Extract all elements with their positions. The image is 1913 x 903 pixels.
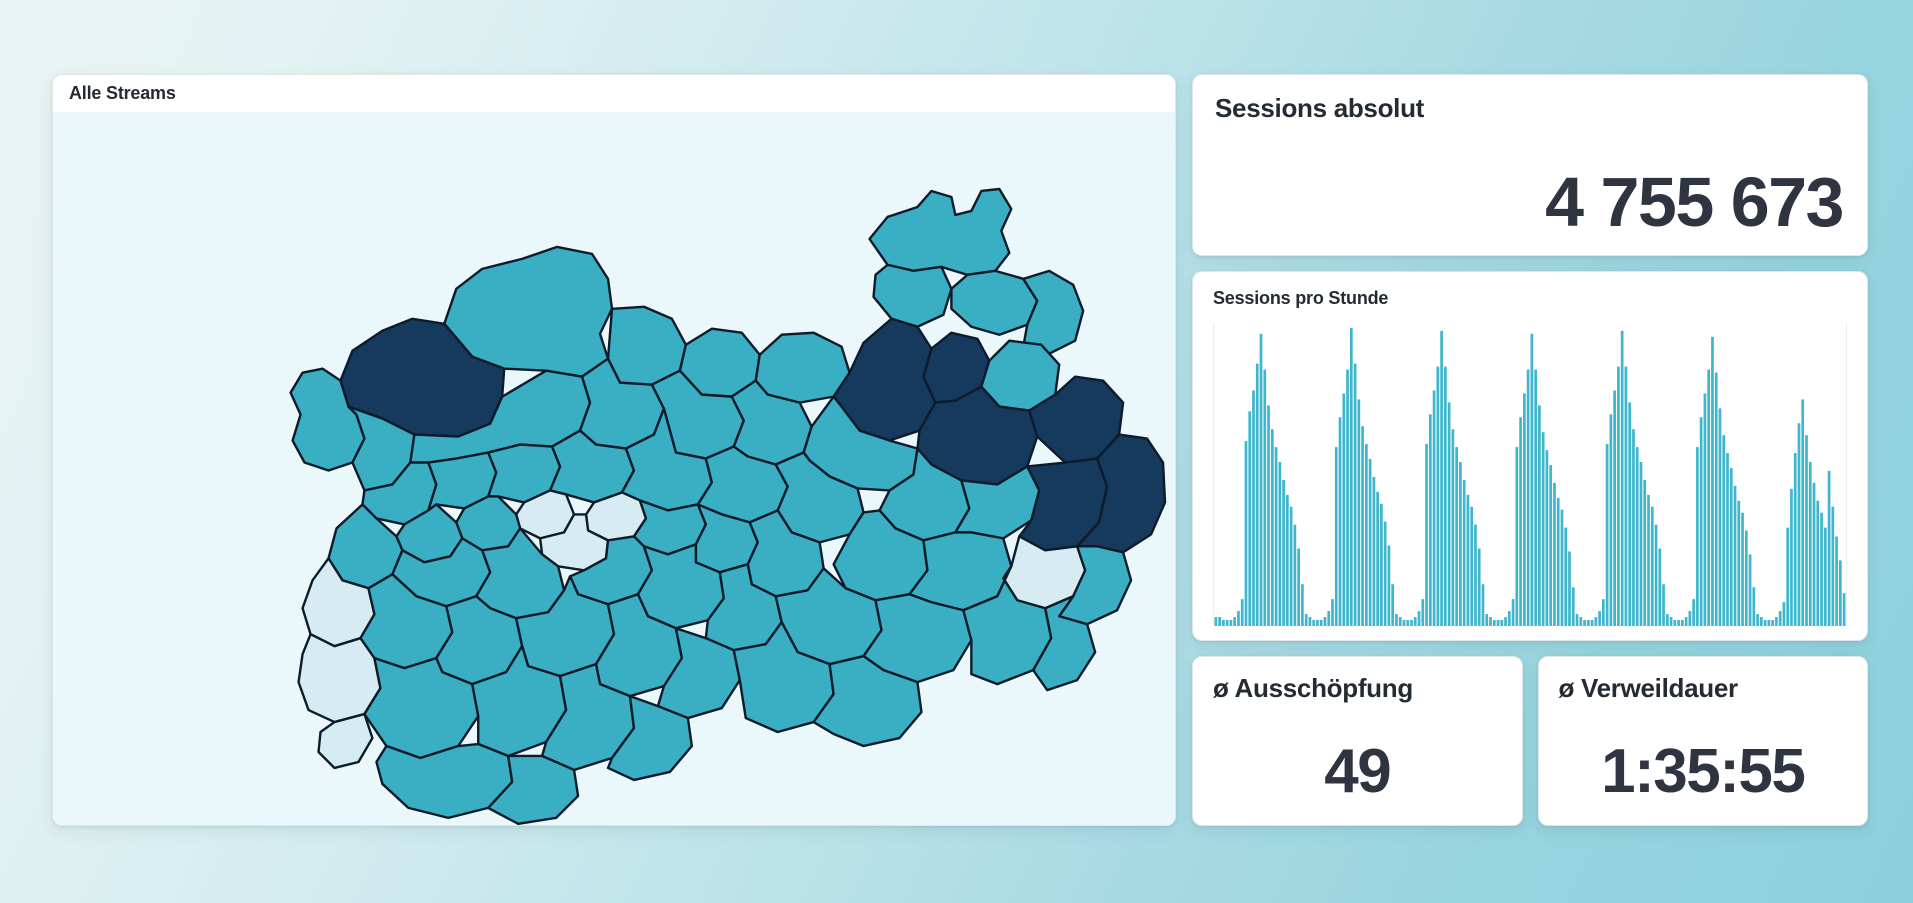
chart-bar: [1730, 468, 1733, 626]
chart-bar: [1805, 435, 1808, 626]
chart-bar: [1312, 620, 1315, 626]
chart-bar: [1497, 620, 1500, 626]
chart-bar: [1655, 525, 1658, 626]
chart-bar: [1222, 620, 1225, 626]
district-region: [870, 189, 1012, 275]
map-card-header: Alle Streams: [53, 75, 1175, 112]
chart-bar: [1301, 584, 1304, 626]
chart-bar: [1786, 528, 1789, 626]
chart-bar: [1286, 495, 1289, 626]
chart-bar: [1553, 483, 1556, 626]
chart-bar: [1376, 492, 1379, 626]
chart-bar: [1403, 620, 1406, 626]
chart-bar: [1625, 367, 1628, 626]
verweildauer-title: ø Verweildauer: [1559, 673, 1848, 704]
chart-bar: [1617, 367, 1620, 626]
chart-bar: [1357, 399, 1360, 626]
chart-bar: [1779, 611, 1782, 626]
chart-bar: [1429, 414, 1432, 626]
chart-bar: [1685, 617, 1688, 626]
chart-bar: [1722, 435, 1725, 626]
chart-bar: [1576, 614, 1579, 626]
chart-bar: [1794, 453, 1797, 626]
all-streams-map-card: Alle Streams: [52, 74, 1176, 826]
chart-bar: [1557, 498, 1560, 626]
chart-bar: [1598, 611, 1601, 626]
chart-bar: [1421, 599, 1424, 626]
chart-bar: [1433, 390, 1436, 626]
chart-bar: [1591, 620, 1594, 626]
chart-bar: [1365, 444, 1368, 626]
chart-bar: [1647, 495, 1650, 626]
chart-bar: [1704, 393, 1707, 626]
chart-bar: [1515, 447, 1518, 626]
chart-bar: [1610, 414, 1613, 626]
chart-bar: [1290, 507, 1293, 626]
chart-bar: [1237, 611, 1240, 626]
chart-bar: [1741, 513, 1744, 626]
chart-bar: [1640, 462, 1643, 626]
chart-bar: [1711, 337, 1714, 626]
chart-bar: [1256, 364, 1259, 626]
chart-bar: [1444, 367, 1447, 626]
chart-bar: [1233, 617, 1236, 626]
chart-bar: [1719, 408, 1722, 626]
dashboard-root: Alle Streams: [52, 74, 1868, 826]
chart-bar: [1798, 423, 1801, 626]
chart-bar: [1504, 617, 1507, 626]
chart-bar: [1726, 453, 1729, 626]
chart-bar: [1327, 611, 1330, 626]
chart-bar: [1643, 480, 1646, 626]
chart-bar: [1760, 617, 1763, 626]
chart-bar: [1294, 525, 1297, 626]
chart-bar: [1485, 614, 1488, 626]
chart-bar: [1271, 429, 1274, 626]
chart-bar: [1809, 462, 1812, 626]
chart-bar: [1587, 620, 1590, 626]
chart-bar: [1388, 545, 1391, 626]
chart-bar: [1549, 465, 1552, 626]
chart-bar: [1467, 495, 1470, 626]
chart-bar: [1677, 620, 1680, 626]
chart-bar: [1681, 620, 1684, 626]
chart-bar: [1275, 447, 1278, 626]
chart-bar: [1768, 620, 1771, 626]
chart-bar: [1602, 599, 1605, 626]
chart-bar: [1579, 617, 1582, 626]
chart-bar: [1418, 611, 1421, 626]
chart-bar: [1572, 587, 1575, 626]
chart-bar: [1226, 620, 1229, 626]
chart-bar: [1346, 370, 1349, 626]
sessions-absolute-card: Sessions absolut 4 755 673: [1192, 74, 1868, 256]
chart-bar: [1692, 599, 1695, 626]
chart-bar: [1666, 614, 1669, 626]
chart-bar: [1448, 402, 1451, 626]
chart-bar: [1331, 599, 1334, 626]
map-canvas[interactable]: [53, 112, 1175, 825]
chart-bar: [1241, 599, 1244, 626]
chart-bar: [1384, 522, 1387, 626]
sessions-per-hour-card: Sessions pro Stunde: [1192, 271, 1868, 641]
chart-bar: [1820, 513, 1823, 626]
chart-bar: [1523, 393, 1526, 626]
chart-bar: [1752, 587, 1755, 626]
chart-bar: [1463, 480, 1466, 626]
chart-bar: [1230, 620, 1233, 626]
chart-bar: [1621, 331, 1624, 626]
chart-bar: [1410, 620, 1413, 626]
chart-bar: [1297, 548, 1300, 626]
ausschoepfung-title: ø Ausschöpfung: [1213, 673, 1502, 704]
chart-bar: [1673, 620, 1676, 626]
chart-bar: [1395, 614, 1398, 626]
chart-bar: [1628, 402, 1631, 626]
chart-bar: [1828, 471, 1831, 626]
chart-bar: [1263, 370, 1266, 626]
chart-bar: [1252, 390, 1255, 626]
chart-bar: [1749, 554, 1752, 626]
chart-bar: [1734, 486, 1737, 626]
chart-bar: [1335, 447, 1338, 626]
chart-bar: [1613, 390, 1616, 626]
chart-bar: [1482, 584, 1485, 626]
chart-bar: [1764, 620, 1767, 626]
chart-bar: [1455, 447, 1458, 626]
chart-bar: [1508, 611, 1511, 626]
chart-bar: [1248, 411, 1251, 626]
chart-bar: [1436, 367, 1439, 626]
chart-bar: [1538, 405, 1541, 626]
chart-bar: [1500, 620, 1503, 626]
chart-bar: [1474, 525, 1477, 626]
chart-bar: [1816, 501, 1819, 626]
nrw-choropleth-map[interactable]: [53, 112, 1175, 825]
chart-bar: [1531, 334, 1534, 626]
chart-bar: [1707, 370, 1710, 626]
chart-bar: [1689, 611, 1692, 626]
ausschoepfung-value: 49: [1213, 741, 1502, 803]
district-region: [874, 265, 952, 327]
chart-bar: [1790, 489, 1793, 626]
chart-bar: [1380, 504, 1383, 626]
chart-bar: [1534, 370, 1537, 626]
chart-bar: [1564, 528, 1567, 626]
chart-bar: [1568, 551, 1571, 626]
chart-bar: [1414, 617, 1417, 626]
sessions-absolute-value: 4 755 673: [1215, 167, 1843, 237]
chart-bar: [1632, 429, 1635, 626]
chart-bar: [1354, 364, 1357, 626]
chart-bar: [1361, 426, 1364, 626]
chart-bar: [1391, 584, 1394, 626]
chart-bar: [1406, 620, 1409, 626]
chart-bar: [1801, 399, 1804, 626]
sessions-per-hour-title: Sessions pro Stunde: [1213, 288, 1847, 309]
chart-bar: [1843, 593, 1846, 626]
chart-bar: [1489, 617, 1492, 626]
chart-bar: [1260, 334, 1263, 626]
chart-bar: [1771, 620, 1774, 626]
chart-bar: [1478, 548, 1481, 626]
chart-bar: [1324, 617, 1327, 626]
chart-bar: [1245, 441, 1248, 626]
district-region: [319, 714, 373, 768]
chart-bar: [1561, 510, 1564, 626]
hourly-sessions-bar-chart[interactable]: [1214, 323, 1846, 626]
chart-bar: [1309, 617, 1312, 626]
chart-bar: [1278, 462, 1281, 626]
chart-bar: [1519, 417, 1522, 626]
chart-bar: [1350, 328, 1353, 626]
chart-bar: [1583, 620, 1586, 626]
chart-bar: [1745, 531, 1748, 626]
verweildauer-value: 1:35:55: [1559, 741, 1848, 803]
sessions-absolute-title: Sessions absolut: [1215, 93, 1843, 124]
chart-bar: [1756, 614, 1759, 626]
chart-bar: [1470, 507, 1473, 626]
chart-bar: [1658, 548, 1661, 626]
chart-bar: [1783, 602, 1786, 626]
chart-bar: [1493, 620, 1496, 626]
chart-bar: [1696, 447, 1699, 626]
chart-bar: [1459, 462, 1462, 626]
chart-bar: [1606, 444, 1609, 626]
chart-bar: [1452, 429, 1455, 626]
chart-bar: [1440, 331, 1443, 626]
chart-bar: [1282, 480, 1285, 626]
chart-bar: [1670, 617, 1673, 626]
chart-bar: [1542, 432, 1545, 626]
chart-bar: [1662, 584, 1665, 626]
chart-bar: [1512, 599, 1515, 626]
chart-bar: [1316, 620, 1319, 626]
chart-bar: [1636, 447, 1639, 626]
chart-bar: [1813, 483, 1816, 626]
chart-bar: [1594, 617, 1597, 626]
chart-bar: [1267, 405, 1270, 626]
kpi-column: Sessions absolut 4 755 673 Sessions pro …: [1192, 74, 1868, 826]
chart-bar: [1320, 620, 1323, 626]
ausschoepfung-card: ø Ausschöpfung 49: [1192, 656, 1523, 826]
chart-bar: [1218, 617, 1221, 626]
chart-bar: [1824, 528, 1827, 626]
chart-bar: [1425, 444, 1428, 626]
chart-bar: [1737, 501, 1740, 626]
chart-bar: [1835, 537, 1838, 626]
chart-bar: [1373, 477, 1376, 626]
chart-bar: [1369, 459, 1372, 626]
chart-bar: [1715, 373, 1718, 626]
district-region: [1023, 271, 1083, 355]
chart-bar: [1775, 617, 1778, 626]
chart-bar: [1831, 507, 1834, 626]
chart-bar: [1700, 417, 1703, 626]
chart-bar: [1527, 370, 1530, 626]
kpi-row: ø Ausschöpfung 49 ø Verweildauer 1:35:55: [1192, 656, 1868, 826]
sessions-per-hour-plot-area[interactable]: [1213, 323, 1847, 626]
chart-bar: [1399, 617, 1402, 626]
chart-bar: [1305, 614, 1308, 626]
chart-bar: [1839, 560, 1842, 626]
chart-bar: [1651, 507, 1654, 626]
chart-bar: [1339, 417, 1342, 626]
chart-bar: [1546, 450, 1549, 626]
verweildauer-card: ø Verweildauer 1:35:55: [1538, 656, 1869, 826]
chart-bar: [1342, 393, 1345, 626]
chart-bar: [1215, 617, 1218, 626]
map-card-title: Alle Streams: [69, 83, 176, 104]
